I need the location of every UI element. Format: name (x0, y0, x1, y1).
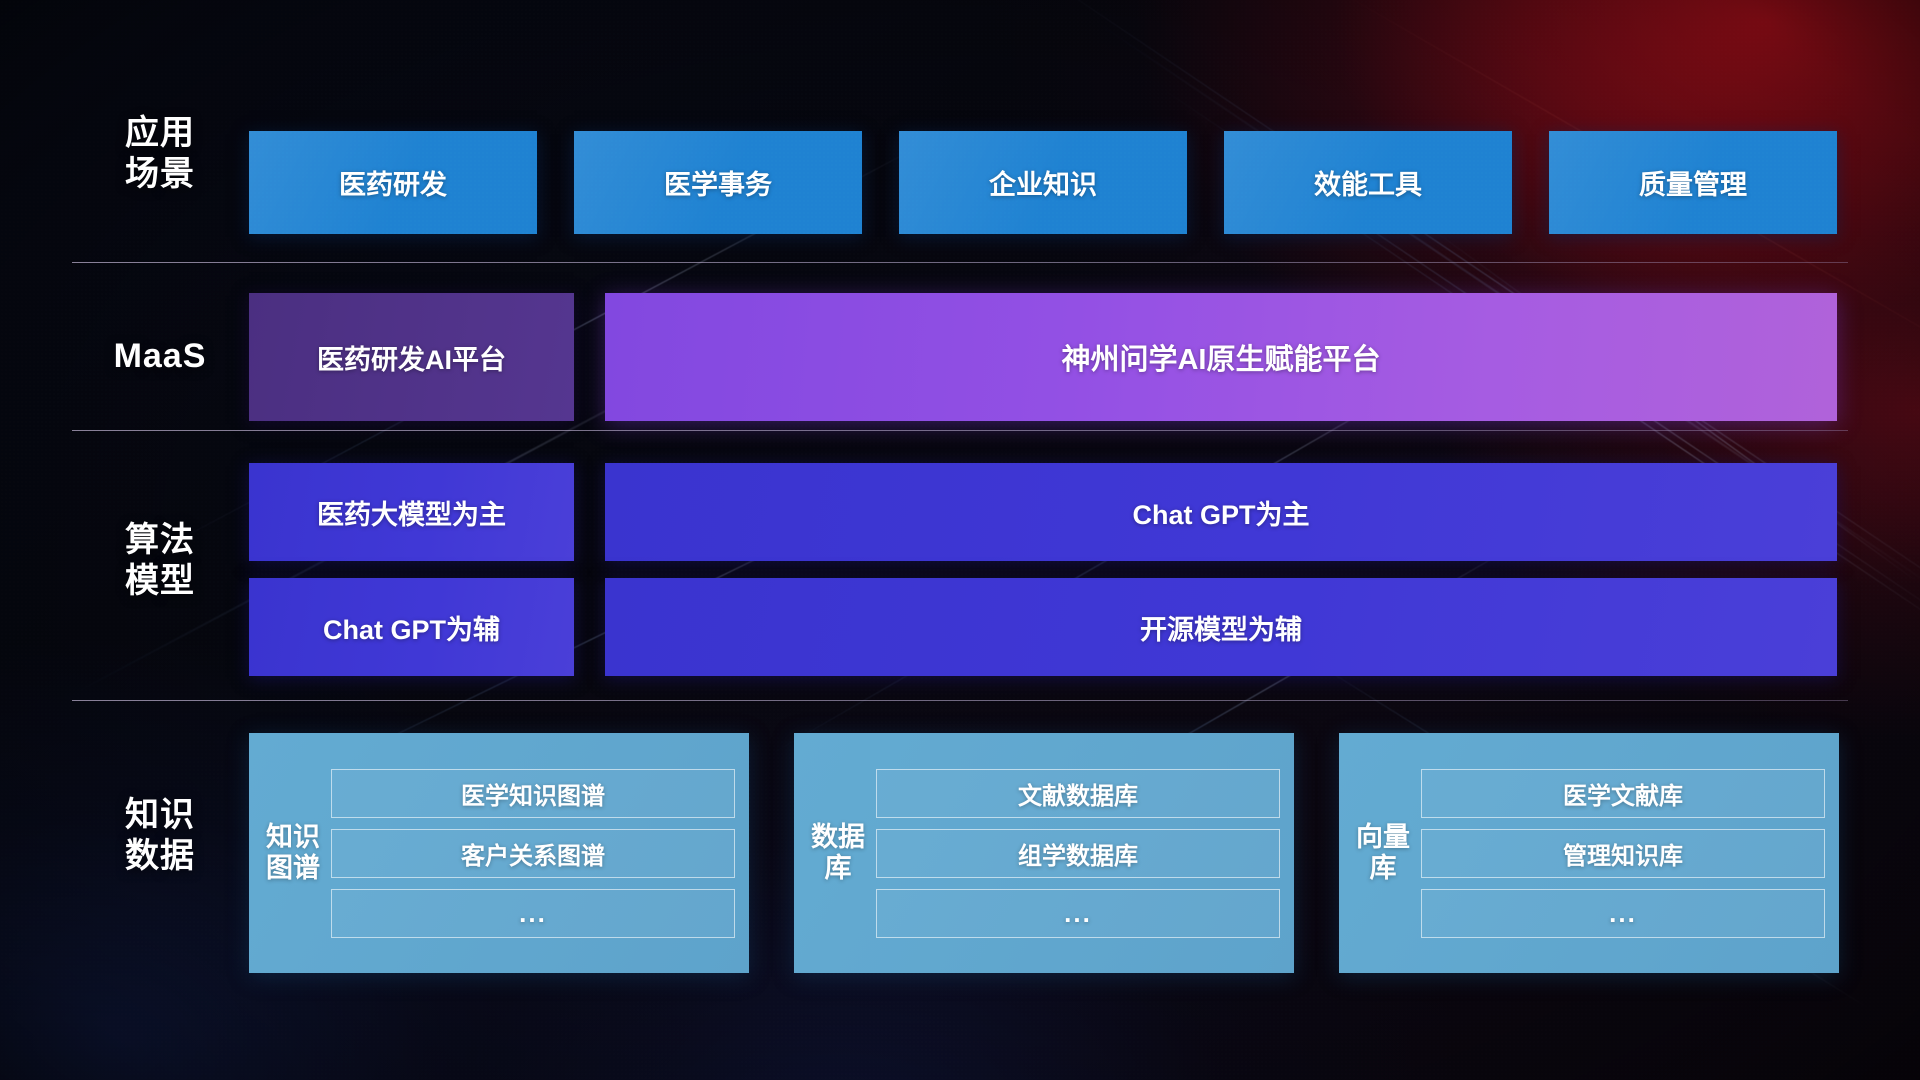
knowledge-item-more[interactable]: ... (876, 889, 1280, 938)
knowledge-panel-items: 医学知识图谱 客户关系图谱 ... (321, 769, 735, 938)
algo-card-label: Chat GPT为主 (1132, 493, 1309, 532)
layer-label-application-scenarios: 应用 场景 (85, 113, 235, 196)
algo-card-chatgpt-secondary[interactable]: Chat GPT为辅 (249, 578, 574, 676)
knowledge-panel-title: 向量库 (1355, 822, 1411, 884)
knowledge-panel-knowledge-graph[interactable]: 知识图谱 医学知识图谱 客户关系图谱 ... (249, 733, 749, 973)
layer-label-knowledge-data: 知识 数据 (85, 795, 235, 878)
knowledge-item[interactable]: 医学知识图谱 (331, 769, 735, 818)
knowledge-item-more[interactable]: ... (1421, 889, 1825, 938)
knowledge-item[interactable]: 文献数据库 (876, 769, 1280, 818)
algo-card-pharma-llm-primary[interactable]: 医药大模型为主 (249, 463, 574, 561)
algo-card-opensource-secondary[interactable]: 开源模型为辅 (605, 578, 1837, 676)
knowledge-panel-vector-store[interactable]: 向量库 医学文献库 管理知识库 ... (1339, 733, 1839, 973)
layer-label-line1: 应用 (85, 113, 235, 154)
algo-card-chatgpt-primary[interactable]: Chat GPT为主 (605, 463, 1837, 561)
app-card-label: 企业知识 (989, 163, 1097, 202)
maas-card-shenzhou-wenxue-platform[interactable]: 神州问学AI原生赋能平台 (605, 293, 1837, 421)
layer-label-maas: MaaS (85, 336, 235, 377)
app-card-label: 医药研发 (339, 163, 447, 202)
maas-card-label: 神州问学AI原生赋能平台 (1061, 336, 1380, 378)
knowledge-panel-items: 医学文献库 管理知识库 ... (1411, 769, 1825, 938)
app-card-quality-management[interactable]: 质量管理 (1549, 131, 1837, 234)
layer-label-line2: 模型 (85, 561, 235, 602)
layer-label-line2: 数据 (85, 836, 235, 877)
app-card-label: 效能工具 (1314, 163, 1422, 202)
knowledge-panel-items: 文献数据库 组学数据库 ... (866, 769, 1280, 938)
knowledge-panel-title: 知识图谱 (265, 822, 321, 884)
layer-divider-2 (72, 430, 1848, 431)
app-card-pharma-rnd[interactable]: 医药研发 (249, 131, 537, 234)
knowledge-item[interactable]: 客户关系图谱 (331, 829, 735, 878)
layer-label-algorithm-models: 算法 模型 (85, 520, 235, 603)
architecture-diagram: 应用 场景 医药研发 医学事务 企业知识 效能工具 质量管理 MaaS 医药研发… (0, 0, 1920, 1080)
knowledge-item[interactable]: 管理知识库 (1421, 829, 1825, 878)
layer-label-line1: 知识 (85, 795, 235, 836)
layer-divider-1 (72, 262, 1848, 263)
app-card-label: 医学事务 (664, 163, 772, 202)
algo-card-label: 开源模型为辅 (1140, 608, 1302, 647)
app-card-efficiency-tools[interactable]: 效能工具 (1224, 131, 1512, 234)
maas-card-label: 医药研发AI平台 (317, 338, 506, 377)
app-card-label: 质量管理 (1639, 163, 1747, 202)
app-card-enterprise-knowledge[interactable]: 企业知识 (899, 131, 1187, 234)
algo-card-label: 医药大模型为主 (317, 493, 506, 532)
maas-card-pharma-ai-platform[interactable]: 医药研发AI平台 (249, 293, 574, 421)
knowledge-item-more[interactable]: ... (331, 889, 735, 938)
knowledge-item[interactable]: 组学数据库 (876, 829, 1280, 878)
algo-card-label: Chat GPT为辅 (323, 608, 500, 647)
layer-label-line1: 算法 (85, 520, 235, 561)
knowledge-panel-database[interactable]: 数据库 文献数据库 组学数据库 ... (794, 733, 1294, 973)
layer-divider-3 (72, 700, 1848, 701)
layer-label-text: MaaS (85, 336, 235, 377)
layer-label-line2: 场景 (85, 154, 235, 195)
knowledge-item[interactable]: 医学文献库 (1421, 769, 1825, 818)
knowledge-panel-title: 数据库 (810, 822, 866, 884)
app-card-medical-affairs[interactable]: 医学事务 (574, 131, 862, 234)
